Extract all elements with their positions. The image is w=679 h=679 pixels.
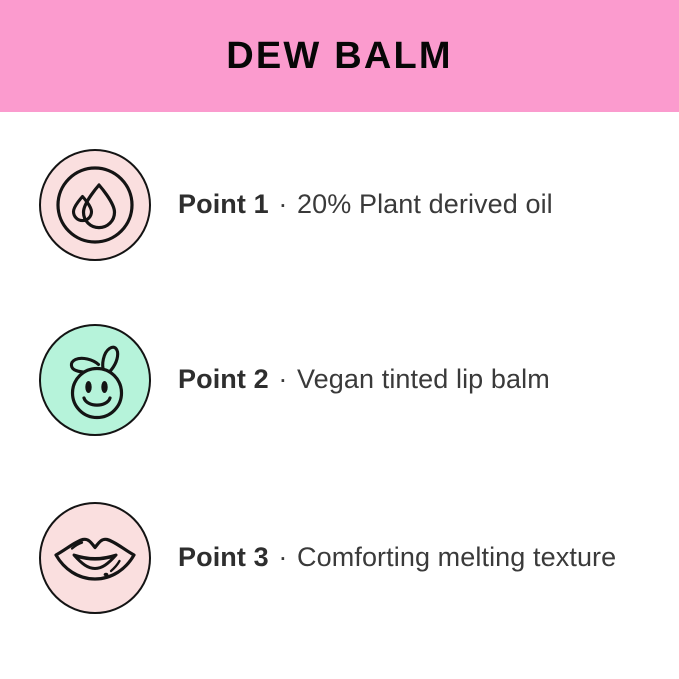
point-separator: · — [276, 189, 289, 219]
point-separator: · — [276, 364, 289, 394]
smiling-lips-badge — [39, 502, 151, 614]
list-item: Point 2 · Vegan tinted lip balm — [0, 320, 679, 440]
product-feature-panel: DEW BALM Point 1 · 20% Plant derived oil — [0, 0, 679, 679]
point-label: Point 3 — [178, 542, 269, 572]
point-text: Point 2 · Vegan tinted lip balm — [178, 364, 550, 395]
water-drop-icon — [52, 162, 138, 248]
points-list: Point 1 · 20% Plant derived oil — [0, 112, 679, 679]
point-text: Point 1 · 20% Plant derived oil — [178, 189, 553, 220]
smiling-lips-icon — [50, 519, 140, 597]
bunny-smiley-icon — [52, 337, 138, 423]
page-title: DEW BALM — [226, 37, 453, 75]
point-label: Point 1 — [178, 189, 269, 219]
header-banner: DEW BALM — [0, 0, 679, 112]
point-description: Vegan tinted lip balm — [297, 364, 550, 394]
point-text: Point 3 · Comforting melting texture — [178, 542, 616, 573]
point-separator: · — [276, 542, 289, 572]
list-item: Point 3 · Comforting melting texture — [0, 498, 679, 618]
bunny-smiley-badge — [39, 324, 151, 436]
point-label: Point 2 — [178, 364, 269, 394]
point-description: Comforting melting texture — [297, 542, 616, 572]
list-item: Point 1 · 20% Plant derived oil — [0, 145, 679, 265]
point-description: 20% Plant derived oil — [297, 189, 553, 219]
water-drop-badge — [39, 149, 151, 261]
